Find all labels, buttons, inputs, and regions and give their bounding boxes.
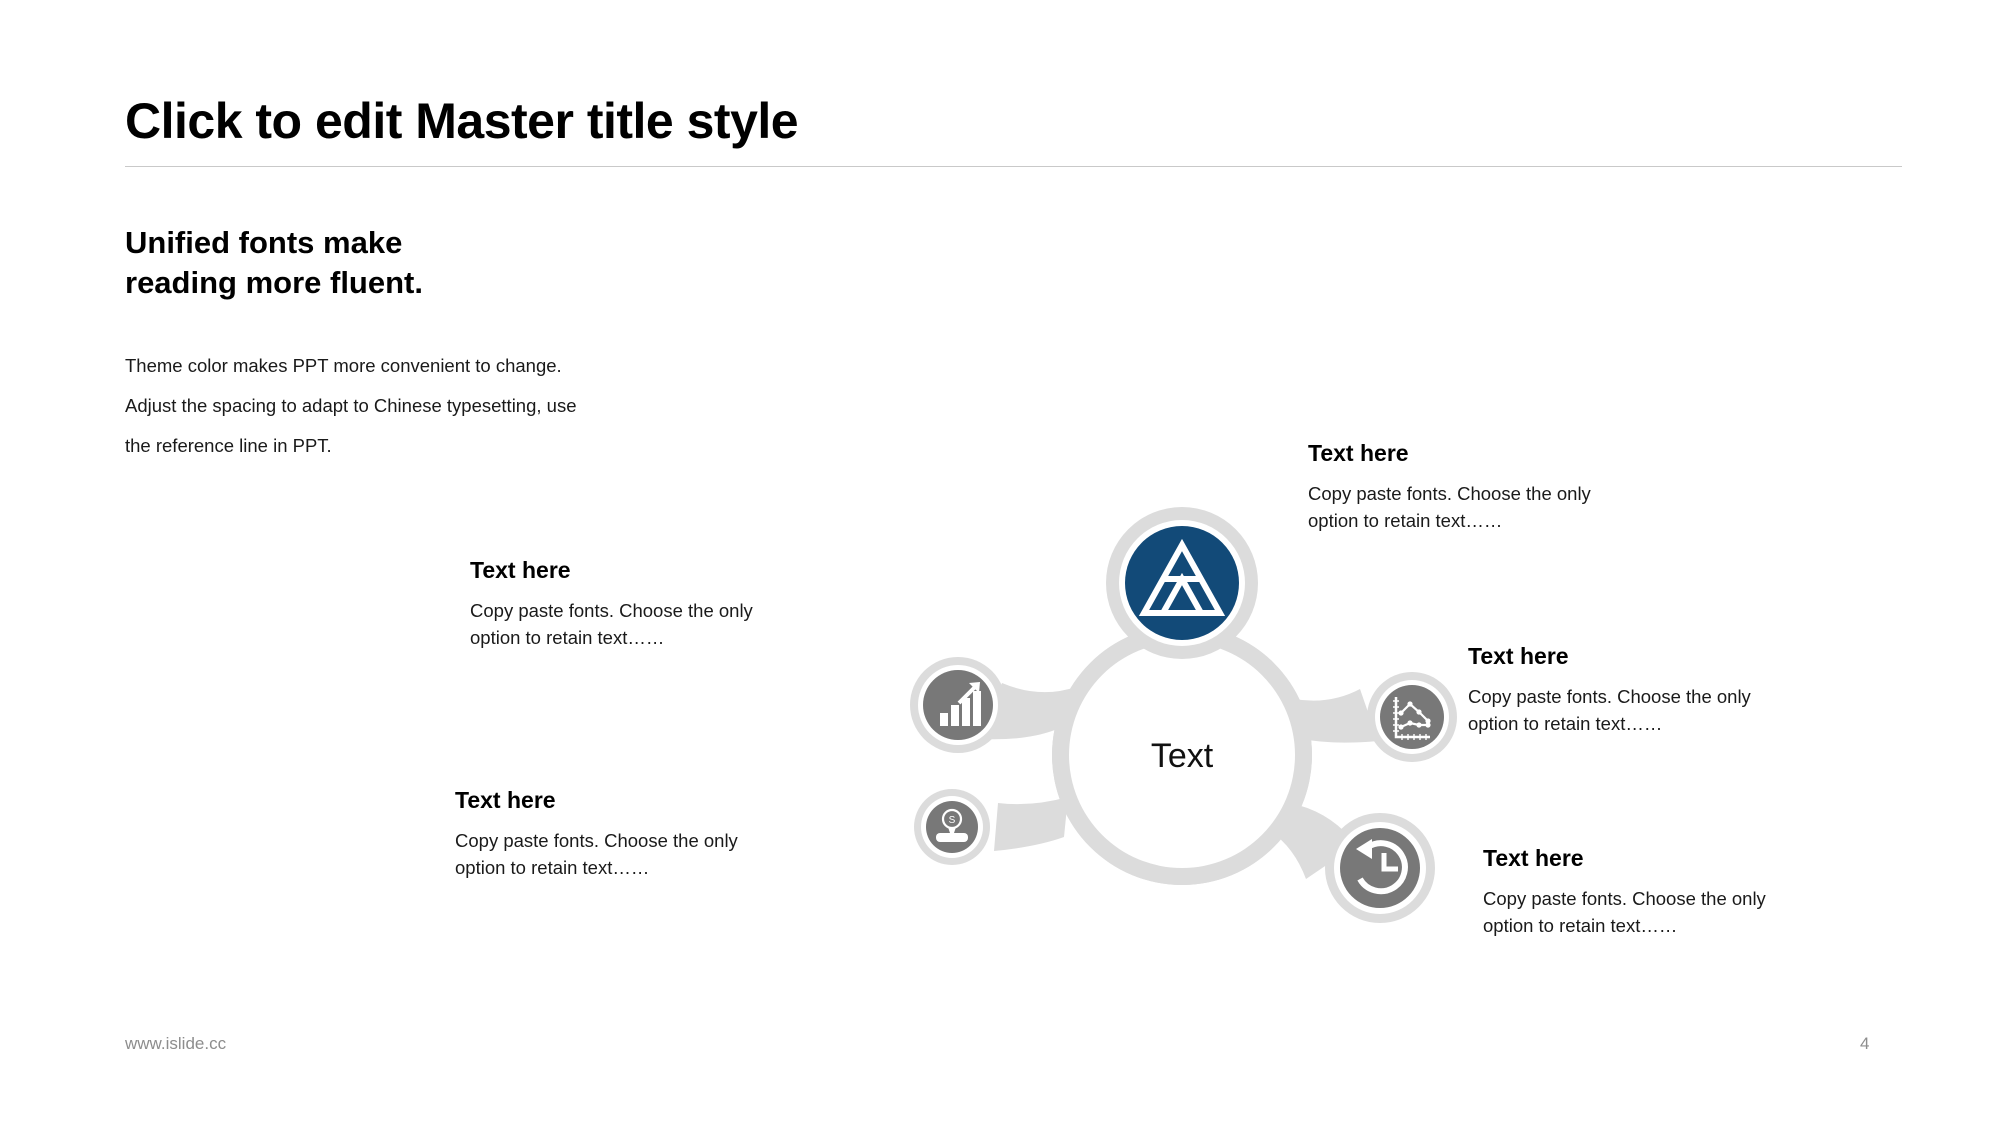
callout-title: Text here [455,787,738,814]
intro-heading: Unified fonts make reading more fluent. [125,223,685,302]
callout-title: Text here [1468,643,1751,670]
callout-body: Copy paste fonts. Choose the only option… [470,598,753,652]
callout-body: Copy paste fonts. Choose the only option… [1483,886,1766,940]
callout-middle-right: Text here Copy paste fonts. Choose the o… [1468,643,1751,738]
callout-body-line-1: Copy paste fonts. Choose the only [1308,481,1591,508]
intro-heading-line-1: Unified fonts make [125,223,685,263]
node-left-lower[interactable]: S [914,789,990,865]
page-title: Click to edit Master title style [125,92,798,150]
callout-top-right: Text here Copy paste fonts. Choose the o… [1308,440,1591,535]
title-divider [125,166,1902,167]
callout-title: Text here [1308,440,1591,467]
intro-body-line-2: Adjust the spacing to adapt to Chinese t… [125,386,725,426]
intro-heading-line-2: reading more fluent. [125,263,685,303]
node-top[interactable] [1106,507,1258,659]
callout-body-line-2: option to retain text…… [1308,508,1591,535]
callout-body-line-1: Copy paste fonts. Choose the only [455,828,738,855]
node-right-lower[interactable] [1325,813,1435,923]
slide-canvas: Click to edit Master title style Unified… [0,0,2000,1125]
callout-body-line-1: Copy paste fonts. Choose the only [1468,684,1751,711]
callout-body-line-2: option to retain text…… [455,855,738,882]
callout-body: Copy paste fonts. Choose the only option… [1308,481,1591,535]
callout-title: Text here [1483,845,1766,872]
footer-url[interactable]: www.islide.cc [125,1034,226,1054]
callout-body: Copy paste fonts. Choose the only option… [1468,684,1751,738]
node-left-upper[interactable] [910,657,1006,753]
node-right-upper[interactable] [1367,672,1457,762]
callout-body-line-2: option to retain text…… [470,625,753,652]
intro-body-line-3: the reference line in PPT. [125,426,725,466]
callout-body-line-2: option to retain text…… [1483,913,1766,940]
callout-bottom-right: Text here Copy paste fonts. Choose the o… [1483,845,1766,940]
callout-middle-left: Text here Copy paste fonts. Choose the o… [470,557,753,652]
node-center[interactable]: Text [1052,625,1312,885]
svg-text:S: S [949,815,956,826]
intro-body: Theme color makes PPT more convenient to… [125,346,725,465]
callout-body-line-1: Copy paste fonts. Choose the only [470,598,753,625]
node-center-label: Text [1151,737,1214,775]
intro-body-line-1: Theme color makes PPT more convenient to… [125,346,725,386]
page-number: 4 [1860,1034,1869,1054]
callout-bottom-left: Text here Copy paste fonts. Choose the o… [455,787,738,882]
callout-body-line-2: option to retain text…… [1468,711,1751,738]
callout-body: Copy paste fonts. Choose the only option… [455,828,738,882]
callout-title: Text here [470,557,753,584]
callout-body-line-1: Copy paste fonts. Choose the only [1483,886,1766,913]
